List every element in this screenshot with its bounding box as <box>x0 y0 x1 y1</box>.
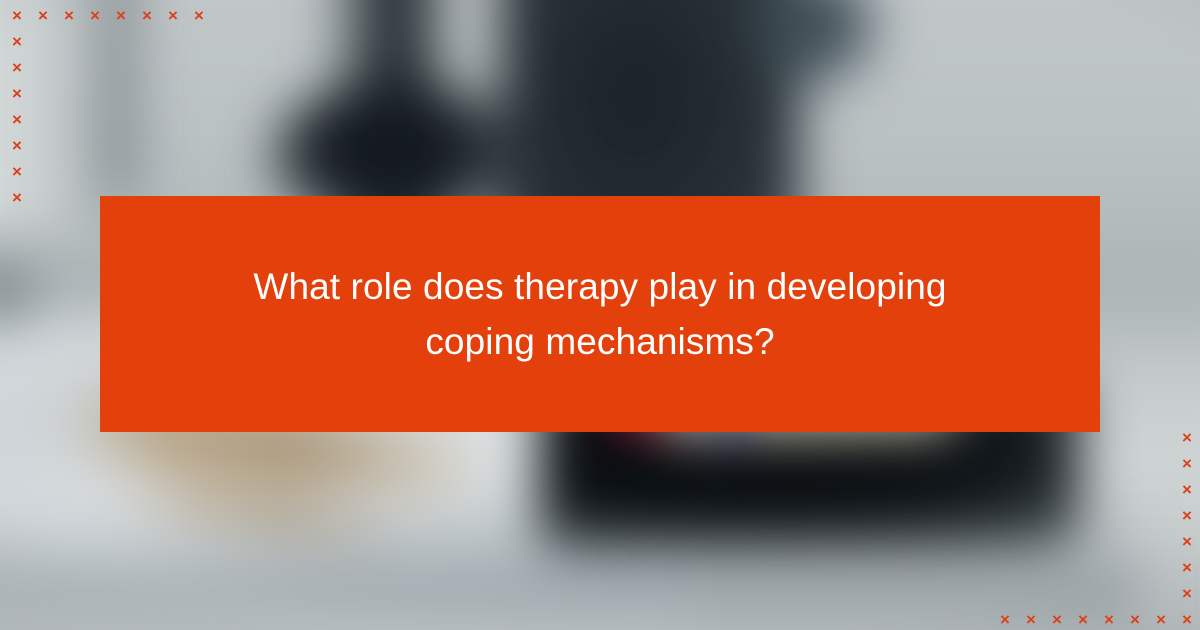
quote-banner: What role does therapy play in developin… <box>100 196 1100 432</box>
quote-card: ××××××××××××××××××××××××××××××××××××××××… <box>0 0 1200 630</box>
quote-text: What role does therapy play in developin… <box>180 259 1020 369</box>
